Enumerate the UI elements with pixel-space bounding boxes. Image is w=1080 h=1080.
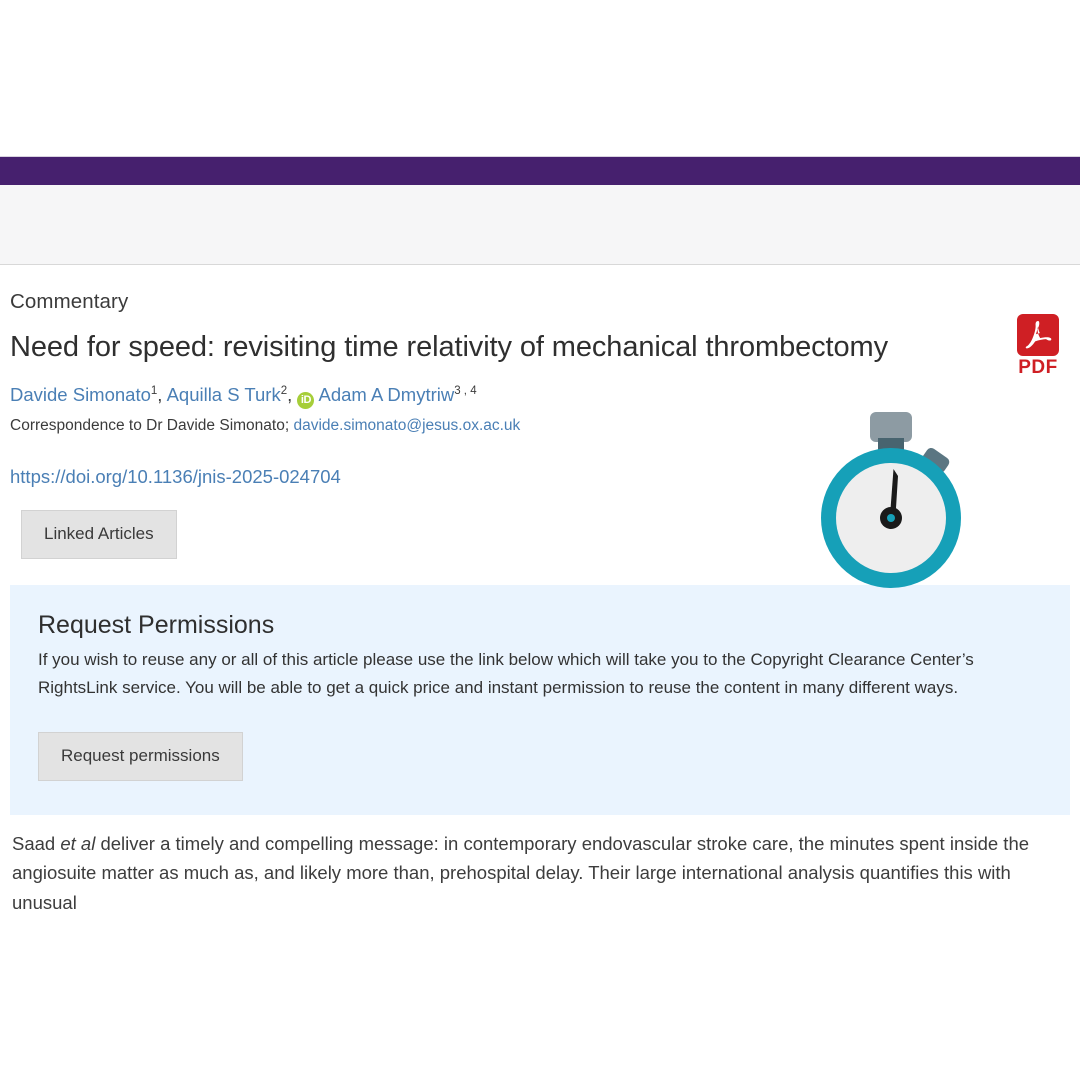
orcid-icon[interactable]: iD (297, 392, 314, 409)
author-link-2[interactable]: Aquilla S Turk (167, 384, 281, 405)
body-text-part2: deliver a timely and compelling message:… (12, 833, 1029, 913)
request-permissions-panel: Request Permissions If you wish to reuse… (10, 585, 1070, 815)
brand-header-bar (0, 156, 1080, 186)
page-top-whitespace (0, 0, 1080, 155)
author-affiliation-1: 1 (151, 385, 157, 397)
site-navigation-band[interactable] (0, 185, 1080, 265)
article-content: PDF Commentary Need for speed: revisitin… (0, 290, 1080, 918)
stopwatch-icon (810, 410, 970, 600)
request-permissions-heading: Request Permissions (38, 611, 1042, 640)
request-permissions-button-wrapper: Request permissions (38, 732, 1042, 781)
doi-link[interactable]: https://doi.org/10.1136/jnis-2025-024704 (10, 466, 341, 487)
pdf-icon (1017, 314, 1059, 356)
request-permissions-text: If you wish to reuse any or all of this … (38, 646, 1042, 701)
article-body-paragraph: Saad et al deliver a timely and compelli… (10, 829, 1070, 918)
author-affiliation-3: 3 , 4 (454, 385, 476, 397)
correspondence-prefix: Correspondence to Dr Davide Simonato; (10, 417, 289, 434)
author-link-3[interactable]: Adam A Dmytriw (319, 384, 455, 405)
page-title: Need for speed: revisiting time relativi… (10, 331, 1010, 364)
body-text-part1: Saad (12, 833, 60, 854)
linked-articles-button[interactable]: Linked Articles (21, 510, 177, 559)
author-list: Davide Simonato1, Aquilla S Turk2, iD Ad… (10, 384, 1070, 409)
correspondence-email-link[interactable]: davide.simonato@jesus.ox.ac.uk (293, 417, 520, 434)
body-text-emphasis: et al (60, 833, 95, 854)
pdf-download-link[interactable]: PDF (1009, 314, 1067, 379)
request-permissions-button[interactable]: Request permissions (38, 732, 243, 781)
author-link-1[interactable]: Davide Simonato (10, 384, 151, 405)
pdf-label: PDF (1009, 357, 1067, 379)
article-type-label: Commentary (10, 290, 1070, 314)
article-container: PDF Commentary Need for speed: revisitin… (0, 266, 1080, 918)
author-affiliation-2: 2 (281, 385, 287, 397)
